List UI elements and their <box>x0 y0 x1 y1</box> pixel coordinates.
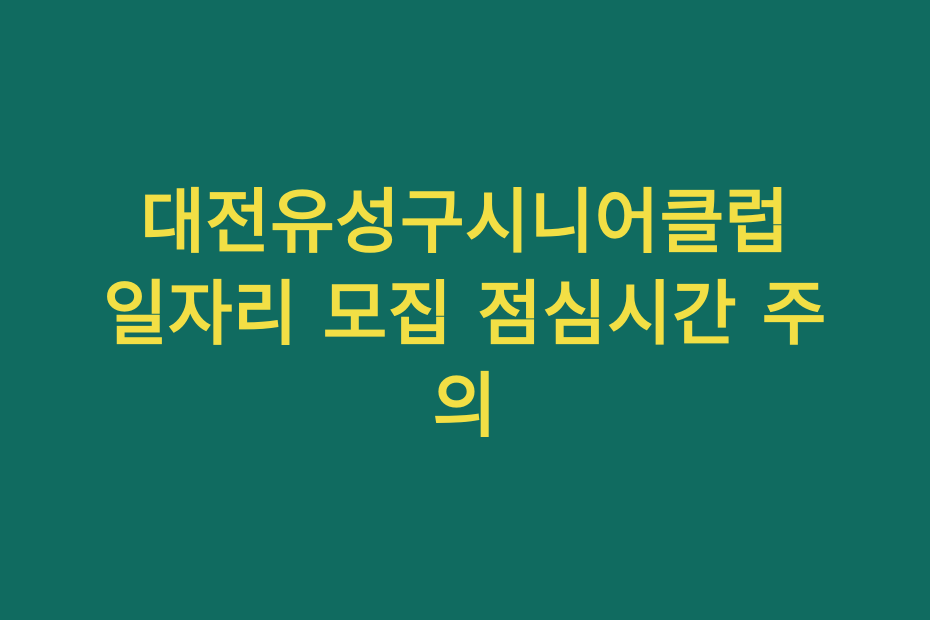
banner-card: 대전유성구시니어클럽 일자리 모집 점심시간 주 의 <box>0 0 930 620</box>
headline-line-1: 대전유성구시니어클럽 <box>65 176 865 268</box>
headline-block: 대전유성구시니어클럽 일자리 모집 점심시간 주 의 <box>65 176 865 452</box>
headline-line-2: 일자리 모집 점심시간 주 <box>65 268 865 360</box>
headline-line-3: 의 <box>65 360 865 452</box>
page-title: 대전유성구시니어클럽 일자리 모집 점심시간 주 의 <box>65 176 865 452</box>
